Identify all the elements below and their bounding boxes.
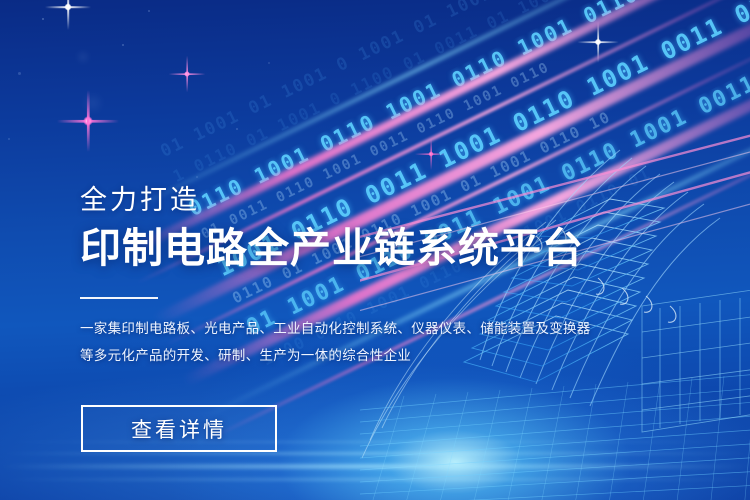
particle-dot [122,44,124,46]
particle-dot [42,18,44,20]
bottom-light-ray [0,464,750,469]
sparkle-star-icon [430,153,431,154]
sparkle-star-icon [597,41,599,43]
particle-dot [236,128,238,130]
hero-eyebrow: 全力打造 [80,186,600,216]
hero-description-line-1: 一家集印制电路板、光电产品、工业自动化控制系统、仪器仪表、储能装置及变换器 [80,315,600,342]
bottom-light-ray [0,478,750,481]
sparkle-star-icon [67,6,69,8]
view-details-label: 查看详情 [131,414,227,444]
page-title: 印制电路全产业链系统平台 [80,223,600,273]
particle-dot [86,96,100,110]
view-details-button[interactable]: 查看详情 [81,405,277,452]
sparkle-star-icon [186,73,188,75]
binary-row: 1 0110 01 1001 0 1100 01 0011 01 1001 0 [170,0,586,186]
particle-dot [78,52,88,62]
bottom-light-ray [0,452,750,455]
particle-dot [148,10,150,12]
hero-description-line-2: 等多元化产品的开发、研制、生产为一体的综合性企业 [80,342,600,369]
particle-dot [268,62,270,64]
binary-row: 01 1001 01 1001 0 1001 01 1001 01 1001 0… [157,0,617,162]
hero-content: 全力打造 印制电路全产业链系统平台 一家集印制电路板、光电产品、工业自动化控制系… [80,186,600,369]
sparkle-star-icon [87,120,90,123]
particle-dot [8,138,10,140]
title-divider [80,297,158,299]
hero-banner: 01 1001 01 1001 0 1001 01 1001 01 1001 0… [0,0,750,500]
particle-dot [18,72,21,75]
particle-dot [196,176,198,178]
